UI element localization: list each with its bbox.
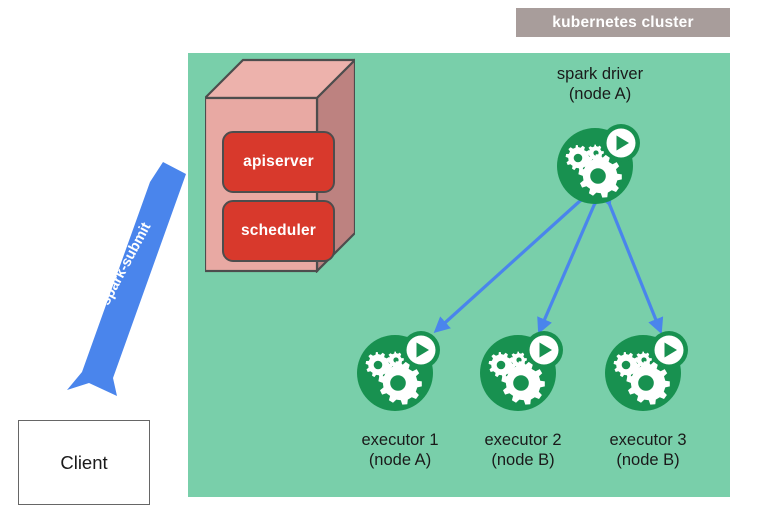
control-plane-component-scheduler[interactable]: scheduler	[222, 200, 335, 262]
executor-3-node[interactable]	[603, 329, 693, 413]
spark-driver-node[interactable]	[555, 122, 645, 206]
play-badge-icon	[407, 336, 436, 365]
client-box[interactable]: Client	[18, 420, 150, 505]
control-plane-component-apiserver[interactable]: apiserver	[222, 131, 335, 193]
spark-driver-label: spark driver (node A)	[520, 64, 680, 104]
executor-3-label: executor 3 (node B)	[568, 430, 728, 470]
executor-1-node[interactable]	[355, 329, 445, 413]
spark-submit-ribbon-shape	[67, 162, 186, 396]
play-badge-icon	[655, 336, 684, 365]
diagram-canvas: kubernetes cluster apiserver scheduler C…	[0, 0, 761, 516]
kubernetes-cluster-badge: kubernetes cluster	[516, 8, 730, 37]
executor-2-node[interactable]	[478, 329, 568, 413]
play-badge-icon	[607, 129, 636, 158]
play-badge-icon	[530, 336, 559, 365]
spark-submit-arrow	[55, 160, 215, 410]
